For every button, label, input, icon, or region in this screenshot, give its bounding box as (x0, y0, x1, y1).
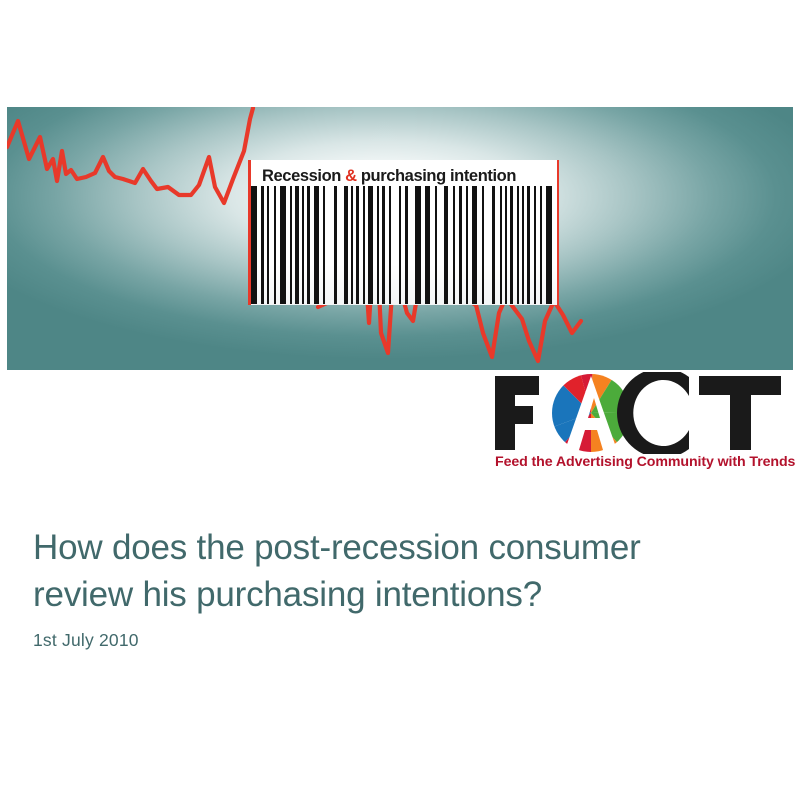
barcode-bars-icon (248, 186, 559, 304)
letter-t-icon (699, 376, 781, 450)
page-title-line-2: review his purchasing intentions? (33, 571, 759, 618)
fact-logo-mark (493, 372, 788, 454)
barcode-title-suffix: purchasing intention (357, 167, 516, 185)
barcode-title-prefix: Recession (262, 167, 345, 185)
letter-f-icon (495, 376, 539, 450)
page-title: How does the post-recession consumer rev… (33, 524, 759, 618)
fact-wordmark-icon (493, 372, 788, 454)
barcode-title-ampersand: & (345, 167, 357, 185)
page-title-line-1: How does the post-recession consumer (33, 524, 759, 571)
fact-logo: Feed the Advertising Community with Tren… (493, 372, 788, 480)
fact-logo-tagline: Feed the Advertising Community with Tren… (495, 454, 788, 470)
slide-root: Recession & purchasing intention (0, 0, 800, 800)
letter-c-icon (617, 372, 689, 454)
barcode-title: Recession & purchasing intention (262, 164, 537, 188)
barcode-panel: Recession & purchasing intention (248, 160, 559, 305)
recession-banner: Recession & purchasing intention (7, 107, 793, 370)
line-series-left (7, 108, 253, 203)
presentation-date: 1st July 2010 (33, 630, 139, 651)
